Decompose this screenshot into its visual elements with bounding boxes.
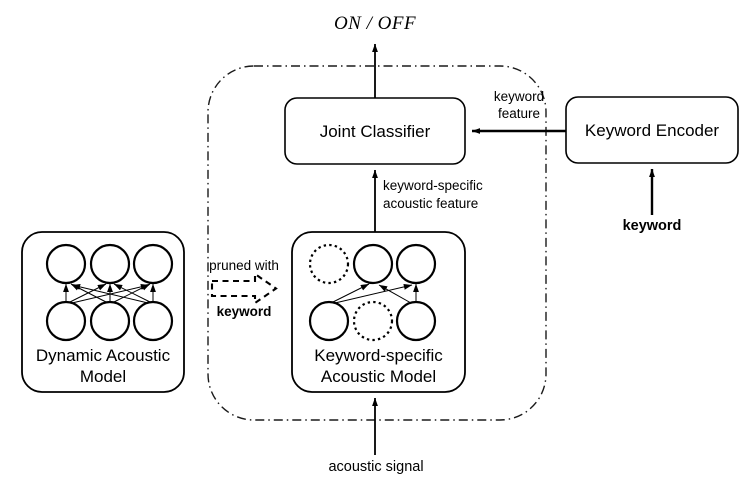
keyword-encoder-label: Keyword Encoder	[566, 120, 738, 141]
dam-node-bottom-2	[91, 302, 129, 340]
joint-classifier-label: Joint Classifier	[285, 121, 465, 142]
pruned-with-keyword-block-arrow	[212, 274, 276, 303]
dam-node-top-1	[47, 245, 85, 283]
dam-node-top-2	[91, 245, 129, 283]
keyword-feature-label-line1: keyword	[472, 89, 566, 106]
dam-node-bottom-3	[134, 302, 172, 340]
dynamic-acoustic-model-label-line1: Dynamic Acoustic	[16, 345, 190, 366]
ksam-node-top-1-pruned	[310, 245, 348, 283]
dynamic-acoustic-network	[47, 245, 172, 340]
keyword-specific-acoustic-feature-label-line1: keyword-specific	[383, 178, 523, 195]
pruned-with-label: pruned with	[196, 258, 292, 275]
diagram-canvas: ON / OFF Joint Classifier Keyword Encode…	[0, 0, 756, 496]
diagram-graphics	[0, 0, 756, 496]
keyword-input-label: keyword	[596, 217, 708, 235]
output-label: ON / OFF	[296, 12, 454, 36]
keyword-specific-model-label-line1: Keyword-specific	[292, 345, 465, 366]
keyword-specific-model-label-line2: Acoustic Model	[292, 366, 465, 387]
pruned-keyword-label: keyword	[201, 304, 287, 321]
ksam-node-bottom-3	[397, 302, 435, 340]
keyword-feature-label-line2: feature	[472, 106, 566, 123]
ksam-node-top-2	[354, 245, 392, 283]
acoustic-signal-label: acoustic signal	[300, 458, 452, 476]
keyword-specific-acoustic-feature-label-line2: acoustic feature	[383, 196, 523, 213]
dynamic-acoustic-model-label-line2: Model	[16, 366, 190, 387]
ksam-node-top-3	[397, 245, 435, 283]
dam-node-top-3	[134, 245, 172, 283]
dam-node-bottom-1	[47, 302, 85, 340]
ksam-node-bottom-2-pruned	[354, 302, 392, 340]
ksam-node-bottom-1	[310, 302, 348, 340]
